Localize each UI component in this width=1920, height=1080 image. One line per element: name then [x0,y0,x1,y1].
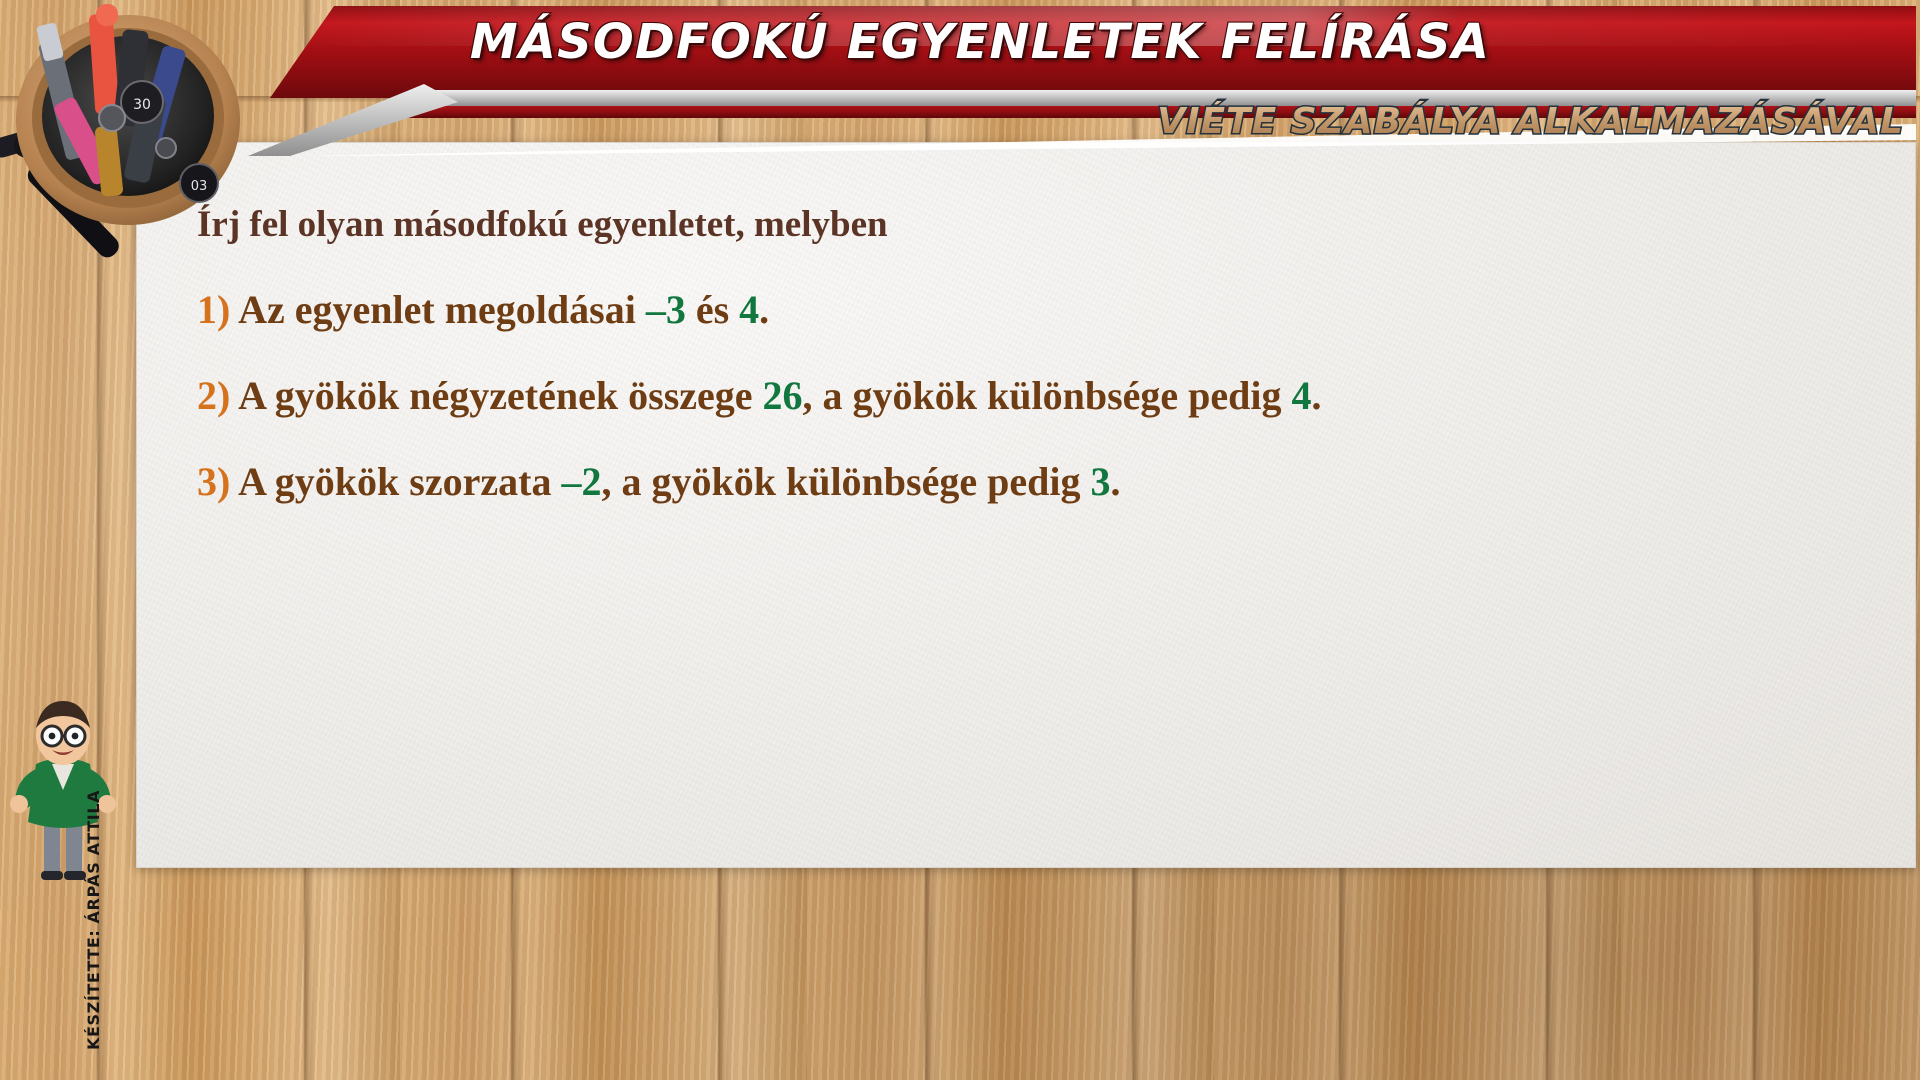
task-text: , a gyökök különbsége pedig [803,373,1292,418]
task-value: –2 [561,459,601,504]
task-text: , a gyökök különbsége pedig [601,459,1090,504]
lead-sentence: Írj fel olyan másodfokú egyenletet, mely… [197,203,1885,246]
task-value: –3 [646,287,686,332]
task-text: . [1110,459,1120,504]
task-item-index: 1) [197,287,230,332]
body-text: Írj fel olyan másodfokú egyenletet, mely… [197,203,1885,545]
task-item-index: 3) [197,459,230,504]
content-panel: Írj fel olyan másodfokú egyenletet, mely… [136,142,1916,868]
task-text: és [686,287,739,332]
task-value: 3 [1090,459,1110,504]
knob-icon [99,105,125,131]
knob-icon-2 [156,138,176,158]
slide-subtitle: VIÉTE SZABÁLYA ALKALMAZÁSÁVAL [560,101,1910,142]
task-item: 1) Az egyenlet megoldásai –3 és 4. [197,286,1885,333]
task-text: . [1312,373,1322,418]
dial-30-label: 30 [133,97,151,113]
task-item-index: 2) [197,373,230,418]
task-value: 26 [763,373,803,418]
task-value: 4 [1292,373,1312,418]
slide-root: MÁSODFOKÚ EGYENLETEK FELÍRÁSA VIÉTE SZAB… [0,0,1920,1080]
task-list: 1) Az egyenlet megoldásai –3 és 4.2) A g… [197,286,1885,506]
task-item: 2) A gyökök négyzetének összege 26, a gy… [197,372,1885,419]
task-text: . [759,287,769,332]
task-value: 4 [739,287,759,332]
task-text: A gyökök szorzata [230,459,561,504]
task-text: A gyökök négyzetének összege [230,373,762,418]
slide-title: MÁSODFOKÚ EGYENLETEK FELÍRÁSA [300,14,1660,70]
pencil-cup-icon: 30 03 [0,0,270,270]
task-text: Az egyenlet megoldásai [230,287,646,332]
dial-30: 30 [121,81,163,123]
author-credit: KÉSZÍTETTE: ÁRPÁS ATTILA [84,690,103,1050]
dial-03: 03 [180,164,218,202]
task-item: 3) A gyökök szorzata –2, a gyökök különb… [197,458,1885,505]
dial-03-label: 03 [191,179,208,194]
